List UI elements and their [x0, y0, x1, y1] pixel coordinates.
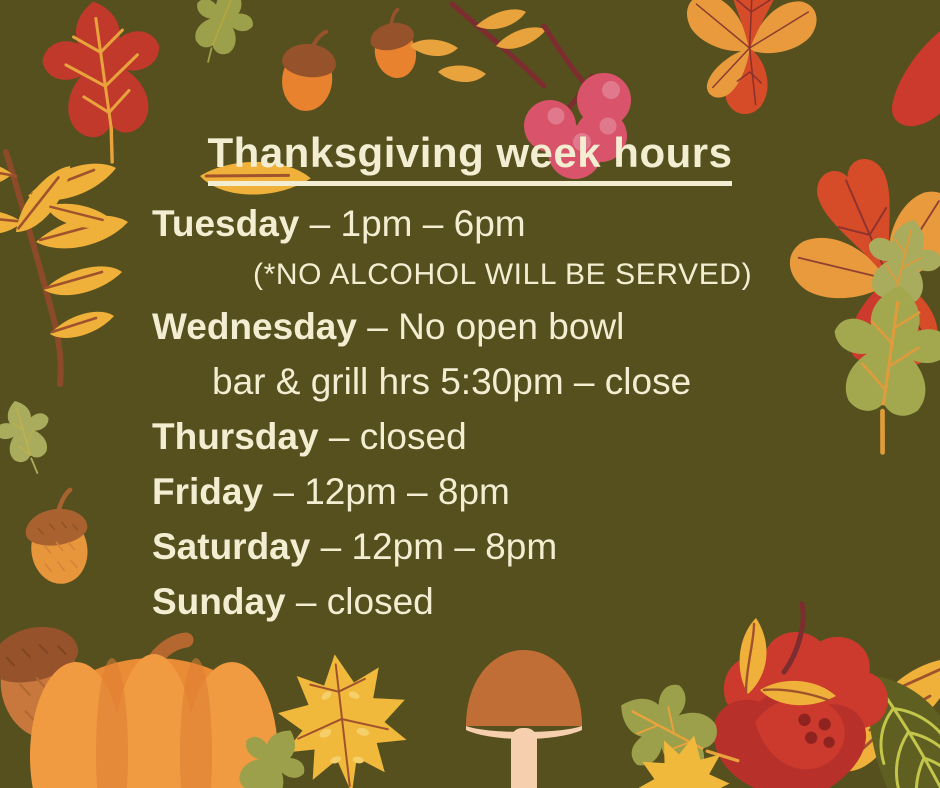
hours-line: Thursday – closed — [0, 409, 940, 464]
hours-line: Tuesday – 1pm – 6pm — [0, 196, 940, 251]
page-title: Thanksgiving week hours — [208, 131, 733, 186]
day-label: Thursday — [152, 416, 319, 457]
hours-value: No open bowl — [398, 306, 624, 347]
separator: – — [357, 306, 398, 347]
hours-value: closed — [327, 581, 434, 622]
thanksgiving-hours-poster: Thanksgiving week hours Tuesday – 1pm – … — [0, 0, 940, 788]
hours-line: Saturday – 12pm – 8pm — [0, 519, 940, 574]
hours-note: (*NO ALCOHOL WILL BE SERVED) — [0, 251, 940, 299]
hours-subline: bar & grill hrs 5:30pm – close — [0, 354, 940, 409]
day-label: Saturday — [152, 526, 310, 567]
day-label: Sunday — [152, 581, 286, 622]
title-row: Thanksgiving week hours — [0, 131, 940, 186]
hours-value: 12pm – 8pm — [304, 471, 510, 512]
hours-line: Wednesday – No open bowl — [0, 299, 940, 354]
hours-value: bar & grill hrs 5:30pm – close — [212, 361, 691, 402]
poster-content: Thanksgiving week hours Tuesday – 1pm – … — [0, 0, 940, 788]
day-label: Tuesday — [152, 203, 299, 244]
hours-value: 1pm – 6pm — [341, 203, 526, 244]
hours-list: Tuesday – 1pm – 6pm (*NO ALCOHOL WILL BE… — [0, 196, 940, 629]
separator: – — [263, 471, 304, 512]
note-text: (*NO ALCOHOL WILL BE SERVED) — [253, 258, 752, 291]
separator: – — [319, 416, 360, 457]
day-label: Friday — [152, 471, 263, 512]
day-label: Wednesday — [152, 306, 357, 347]
hours-line: Friday – 12pm – 8pm — [0, 464, 940, 519]
hours-value: 12pm – 8pm — [351, 526, 557, 567]
separator: – — [310, 526, 351, 567]
separator: – — [286, 581, 327, 622]
hours-value: closed — [360, 416, 467, 457]
separator: – — [299, 203, 340, 244]
hours-line: Sunday – closed — [0, 574, 940, 629]
